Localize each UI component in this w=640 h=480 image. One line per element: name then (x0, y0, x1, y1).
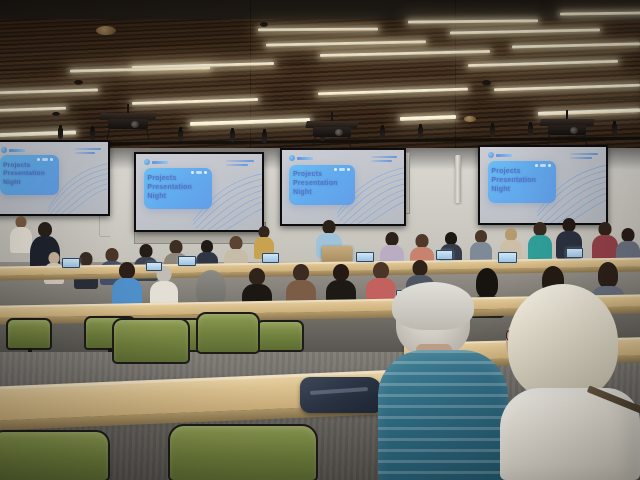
accent-dot (50, 158, 53, 161)
audience-person (112, 262, 142, 304)
slide-accent-dots (334, 168, 350, 171)
slide-left: Projects Presentation Night (136, 154, 262, 230)
track-spotlight (230, 131, 235, 142)
slide-logo (144, 159, 168, 165)
accent-dot (334, 168, 337, 171)
ceiling-vent-disc (464, 116, 476, 122)
chair (196, 312, 260, 354)
person-head (373, 262, 389, 279)
navy-bag (300, 377, 382, 413)
chair (168, 424, 318, 480)
accent-dot (37, 158, 40, 161)
track-spotlight (612, 124, 617, 135)
org-logo-wordmark (152, 161, 168, 164)
org-logo-icon (289, 155, 295, 161)
person-head (293, 264, 309, 281)
person-head-hijab (196, 270, 226, 306)
track-spotlight (490, 126, 495, 137)
person-head (563, 218, 576, 232)
projector-left (100, 104, 156, 144)
chair (256, 320, 304, 352)
track-spotlight (380, 128, 385, 139)
chair-backrest (112, 318, 190, 364)
ceiling-seam (250, 0, 251, 150)
person-head (413, 260, 428, 276)
slide-accent-dots (191, 171, 207, 174)
org-logo-icon (488, 152, 494, 158)
slide-title-line-2: Presentation (147, 184, 258, 193)
audience-person (592, 222, 618, 260)
slide-accent-dots (37, 158, 53, 161)
org-logo-wordmark (297, 157, 313, 160)
person-head (170, 240, 183, 254)
person-head (230, 236, 243, 250)
person-head (534, 222, 547, 236)
slide-title-line-1: Projects (147, 175, 258, 184)
track-spotlight (178, 130, 183, 141)
ceiling-speaker-icon (52, 112, 60, 116)
slide-title-line-2: Presentation (3, 170, 103, 178)
chair-backrest (256, 320, 304, 352)
laptop (62, 258, 80, 268)
projection-screen-center: Projects Presentation Night (280, 148, 406, 226)
laptop (146, 262, 162, 271)
projector-center (306, 112, 358, 150)
accent-dot (548, 164, 551, 167)
audience-person (150, 266, 178, 306)
laptop (356, 252, 374, 262)
chair (6, 318, 52, 350)
person-head (386, 232, 399, 246)
org-logo-wordmark (496, 154, 512, 157)
track-spotlight (262, 132, 267, 143)
slide-center: Projects Presentation Night (282, 150, 404, 224)
accent-dot (196, 171, 202, 174)
chair-backrest (168, 424, 318, 480)
ceiling-speaker-icon (260, 22, 268, 27)
audience-person (528, 222, 552, 258)
chair-backrest (196, 312, 260, 354)
laptop (436, 250, 453, 260)
chair (112, 318, 190, 364)
foreground-man-hair (392, 282, 474, 330)
foreground-woman-hair (508, 284, 618, 400)
slide-title-line-2: Presentation (491, 177, 602, 186)
slide-logo (1, 147, 25, 153)
person-torso (528, 235, 552, 261)
accent-dot (347, 168, 350, 171)
laptop (498, 252, 517, 263)
slide-title-line-3: Night (147, 193, 258, 202)
org-logo-icon (1, 147, 7, 153)
slide-title-line-1: Projects (491, 168, 602, 177)
org-logo-wordmark (9, 149, 25, 152)
person-head (106, 248, 119, 262)
person-head (333, 264, 349, 281)
track-spotlight (58, 128, 63, 139)
slide-title-line-3: Night (3, 179, 103, 187)
accent-dot (191, 171, 194, 174)
person-head (249, 268, 265, 285)
accent-dot (339, 168, 345, 171)
ceiling-speaker-icon (74, 80, 83, 85)
person-head (140, 244, 153, 258)
chair (0, 430, 110, 480)
slide-accent-dots (535, 164, 551, 167)
slide-title-line-3: Night (293, 189, 400, 198)
laptop (178, 256, 196, 266)
foreground-man-striped-polo (378, 350, 508, 480)
person-head (622, 228, 635, 242)
projector-right (540, 110, 594, 148)
audience-person (10, 216, 32, 252)
slide-logo (488, 152, 512, 158)
slide-right: Projects Presentation Night (480, 147, 606, 223)
slide-title-line-3: Night (491, 186, 602, 195)
projection-screen-far-left: Projects Presentation Night (0, 140, 110, 216)
projector-scissor-legs (103, 127, 152, 139)
accent-dot (42, 158, 48, 161)
ceiling-speaker-icon (482, 80, 491, 86)
laptop (566, 248, 583, 258)
foreground-woman (500, 284, 640, 480)
audience-person (470, 230, 492, 262)
person-torso (10, 227, 32, 253)
accent-dot (204, 171, 207, 174)
slide-title: Projects Presentation Night (3, 162, 103, 187)
projection-screen-left: Projects Presentation Night (134, 152, 264, 232)
person-head (416, 234, 429, 248)
wall-speaker (455, 155, 461, 203)
slide-far-left: Projects Presentation Night (0, 142, 108, 214)
foreground-man (378, 286, 508, 480)
projector-scissor-legs (543, 133, 591, 145)
slide-title: Projects Presentation Night (147, 175, 258, 202)
lecture-hall-photo: Projects Presentation Night (0, 0, 640, 480)
track-spotlight (528, 125, 533, 136)
slide-title: Projects Presentation Night (293, 171, 400, 198)
person-head (38, 222, 52, 237)
wall-cable (100, 236, 110, 237)
projection-screen-right: Projects Presentation Night (478, 145, 608, 225)
presenter-head (323, 220, 336, 234)
accent-dot (540, 164, 546, 167)
chair-backrest (0, 430, 110, 480)
laptop (262, 253, 279, 263)
track-spotlight (90, 129, 95, 140)
track-spotlight (418, 127, 423, 138)
chair-backrest (6, 318, 52, 350)
person-head (119, 262, 135, 279)
org-logo-icon (144, 159, 150, 165)
person-head (599, 222, 612, 236)
accent-dot (535, 164, 538, 167)
ceiling-vent-disc (96, 26, 116, 35)
person-head (80, 252, 93, 266)
projector-scissor-legs (309, 135, 355, 147)
slide-title: Projects Presentation Night (491, 168, 602, 195)
slide-logo (289, 155, 313, 161)
